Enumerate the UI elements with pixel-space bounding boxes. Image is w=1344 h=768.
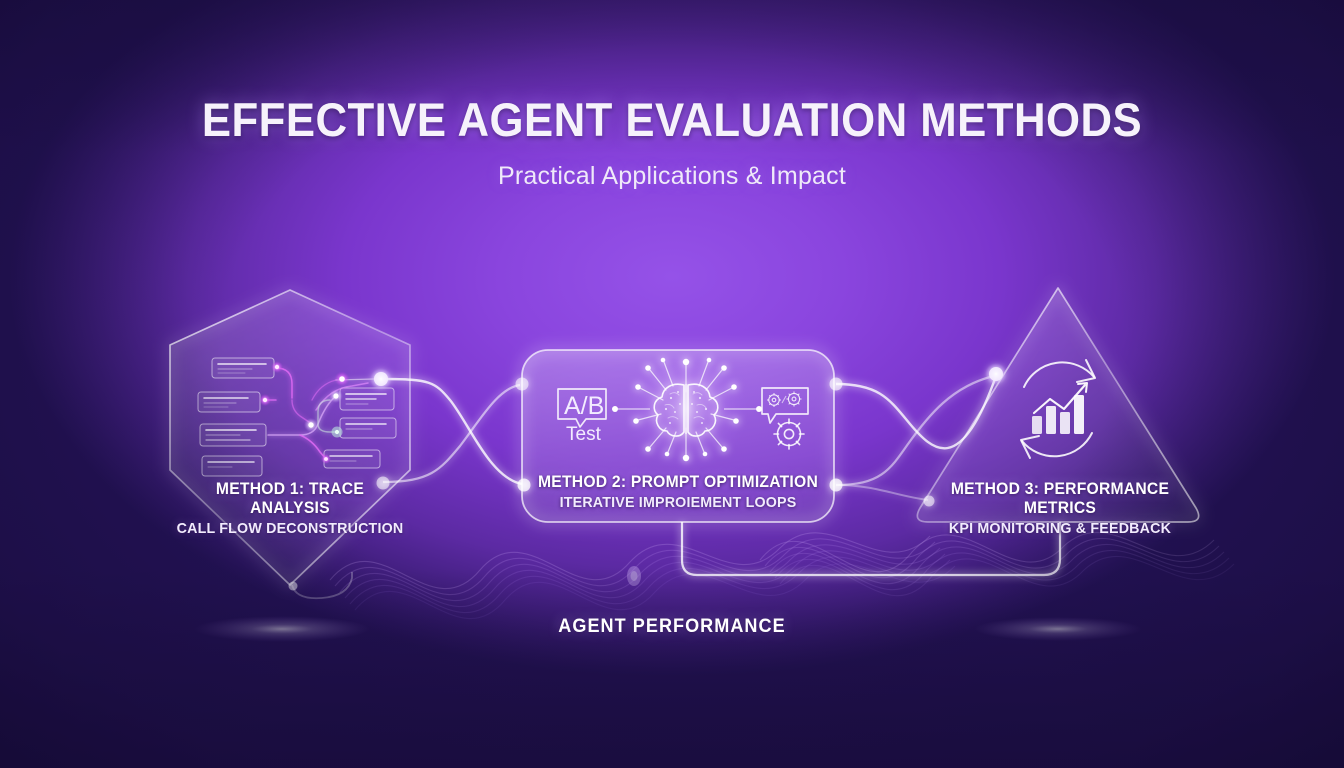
page-subtitle: Practical Applications & Impact: [0, 162, 1344, 191]
infographic-canvas: EFFECTIVE AGENT EVALUATION METHODS Pract…: [0, 0, 1344, 768]
footer-label: AGENT PERFORMANCE: [34, 616, 1311, 638]
page-title: EFFECTIVE AGENT EVALUATION METHODS: [47, 92, 1297, 147]
header: EFFECTIVE AGENT EVALUATION METHODS Pract…: [0, 92, 1344, 191]
